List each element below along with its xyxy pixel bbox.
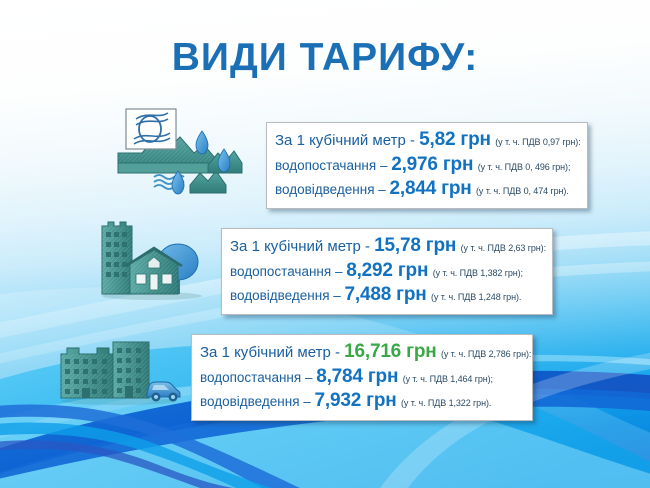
tariff-vat-note: (у т. ч. ПДВ 2,786 грн): <box>441 349 531 359</box>
tariff-label: водовідведення – <box>200 394 315 409</box>
tariff-vat-note: (у т. ч. ПДВ 1,248 грн). <box>431 292 521 302</box>
tariff-amount: 7,488 грн <box>345 284 427 305</box>
tariff-label: водовідведення – <box>275 182 390 197</box>
tariff-row: водовідведення – 7,488 грн (у т. ч. ПДВ … <box>230 283 544 308</box>
page-title: ВИДИ ТАРИФУ: <box>0 36 650 80</box>
tariff-vat-note: (у т. ч. ПДВ 0, 496 грн); <box>478 162 571 172</box>
tariff-vat-note: (у т. ч. ПДВ 0,97 грн): <box>495 137 580 147</box>
tariff-label: водопостачання – <box>275 158 391 173</box>
tariff-row: За 1 кубічний метр - 5,82 грн (у т. ч. П… <box>275 128 579 153</box>
tariff-panel-3: За 1 кубічний метр - 16,716 грн (у т. ч.… <box>191 334 533 421</box>
tariff-panel-1: За 1 кубічний метр - 5,82 грн (у т. ч. П… <box>266 122 588 209</box>
slide-canvas: ВИДИ ТАРИФУ: <box>0 0 650 488</box>
tariff-label: водопостачання – <box>200 370 316 385</box>
tariff-amount: 8,784 грн <box>316 366 398 387</box>
tariff-amount: 7,932 грн <box>315 390 397 411</box>
tariff-row: водопостачання – 8,784 грн (у т. ч. ПДВ … <box>200 365 524 390</box>
tariff-amount: 2,844 грн <box>390 178 472 199</box>
tariff-label: За 1 кубічний метр - <box>230 238 374 255</box>
tariff-vat-note: (у т. ч. ПДВ 0, 474 грн). <box>476 186 569 196</box>
tariff-vat-note: (у т. ч. ПДВ 1,322 грн). <box>401 398 491 408</box>
town-buildings-tree-icon <box>96 216 212 302</box>
tariff-row: водопостачання – 8,292 грн (у т. ч. ПДВ … <box>230 259 544 284</box>
tariff-row: водовідведення – 7,932 грн (у т. ч. ПДВ … <box>200 389 524 414</box>
tariff-row: водопостачання – 2,976 грн (у т. ч. ПДВ … <box>275 153 579 178</box>
tariff-amount: 2,976 грн <box>391 154 473 175</box>
tariff-label: водовідведення – <box>230 288 345 303</box>
tariff-vat-note: (у т. ч. ПДВ 1,464 грн); <box>403 374 493 384</box>
tariff-amount: 15,78 грн <box>374 235 456 256</box>
tariff-row: За 1 кубічний метр - 15,78 грн (у т. ч. … <box>230 234 544 259</box>
city-apartments-car-icon <box>57 332 183 406</box>
tariff-amount-highlighted: 16,716 грн <box>344 341 436 362</box>
tariff-vat-note: (у т. ч. ПДВ 1,382 грн); <box>433 268 523 278</box>
tariff-label: водопостачання – <box>230 264 346 279</box>
tariff-label: За 1 кубічний метр - <box>275 132 419 149</box>
tariff-row: За 1 кубічний метр - 16,716 грн (у т. ч.… <box>200 340 524 365</box>
tariff-row: водовідведення – 2,844 грн (у т. ч. ПДВ … <box>275 177 579 202</box>
tariff-vat-note: (у т. ч. ПДВ 2,63 грн): <box>461 243 546 253</box>
tariff-panel-2: За 1 кубічний метр - 15,78 грн (у т. ч. … <box>221 228 553 315</box>
tariff-label: За 1 кубічний метр - <box>200 344 344 361</box>
water-nature-logo-icon <box>112 101 244 201</box>
tariff-amount: 5,82 грн <box>419 129 491 150</box>
tariff-amount: 8,292 грн <box>346 260 428 281</box>
